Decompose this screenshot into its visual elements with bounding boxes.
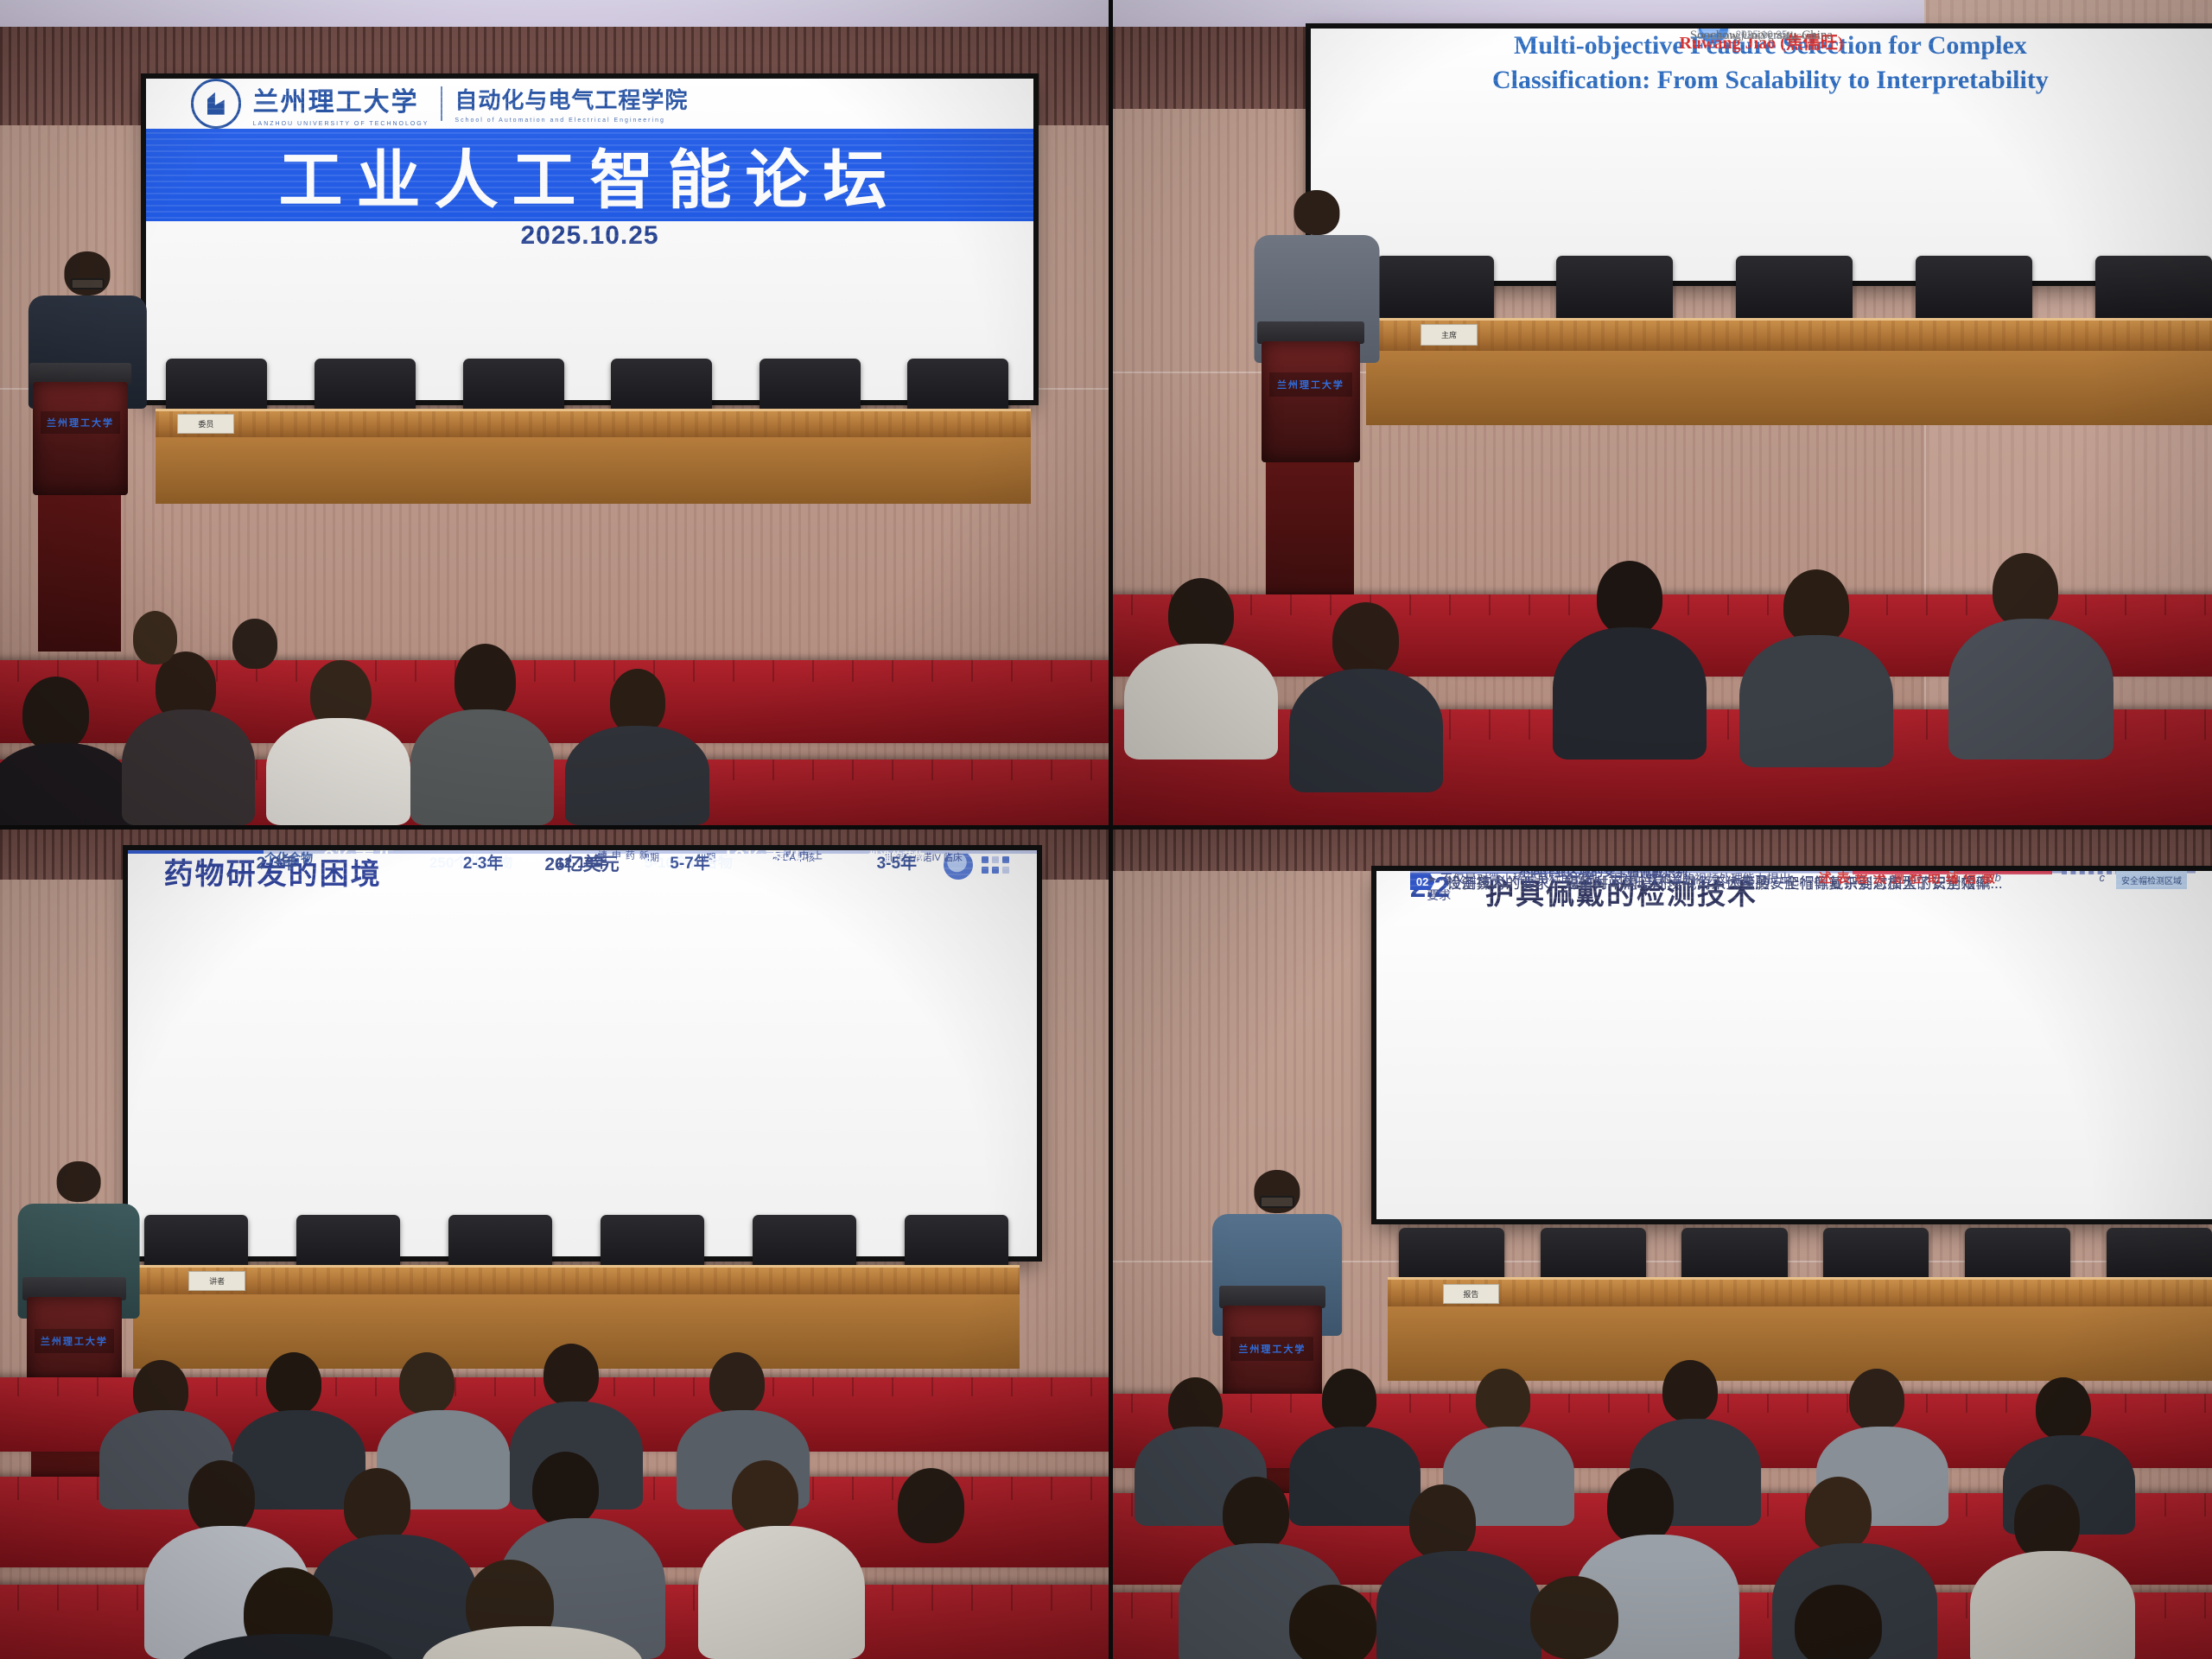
stage-desk-front xyxy=(1388,1306,2212,1381)
name-plate: 讲者 xyxy=(188,1271,245,1291)
total-cost: 26亿美元 xyxy=(128,850,1037,876)
dashed-label: 人体检测框 xyxy=(2073,873,2116,874)
lectern-body: 兰州理工大学 xyxy=(27,1297,122,1418)
lectern-body: 兰州理工大学 xyxy=(33,382,127,495)
screen-scanlines xyxy=(1376,871,2212,1219)
screen-glow xyxy=(128,850,1037,1256)
ceiling xyxy=(0,0,1109,27)
lectern-base xyxy=(31,1419,116,1568)
stage-desk-front xyxy=(156,437,1032,503)
wall-upper-dark-band xyxy=(1113,829,2212,871)
university-emblem-icon xyxy=(191,79,241,129)
photo-label: c xyxy=(2099,871,2105,884)
name-plate: 主席 xyxy=(1421,324,1478,346)
stage-desk-front xyxy=(133,1294,1020,1369)
forum-title-text: 工业人工智能论坛 xyxy=(279,129,901,221)
name-plate: 报告 xyxy=(1443,1284,1500,1304)
stage-chair-row xyxy=(1376,256,2212,321)
stage-desk-top xyxy=(1388,1277,2212,1309)
panel-bottom-right: 2.2 护具佩戴的检测技术 佩戴安全帽能够有效降低头部受到落石、器械、摔打、电击… xyxy=(1113,829,2212,1659)
lectern-base xyxy=(1266,462,1354,602)
left-note: ➤ 不仅是对微小稀疏目标的识别，更对计算资源的视频处理能力提出要求 xyxy=(1427,871,1794,904)
lectern-body: 兰州理工大学 xyxy=(1223,1306,1321,1427)
paper-title-line2: Classification: From Scalability to Inte… xyxy=(1347,63,2194,98)
forum-date-row: 2025.10.25 xyxy=(146,221,1033,251)
stage-desk-top xyxy=(1366,318,2212,353)
slide-logo-row: 兰州理工大学 LANZHOU UNIVERSITY OF TECHNOLOGY … xyxy=(146,79,1033,129)
lectern-nameplate: 兰州理工大学 xyxy=(35,1329,115,1353)
lectern-nameplate: 兰州理工大学 xyxy=(41,411,120,434)
projection-screen: 药物研发的困境 药物发现 临床前研究 临床试验 上市 xyxy=(128,850,1037,1256)
stage-desk-top xyxy=(156,409,1032,440)
lectern: 兰州理工大学 xyxy=(27,1277,122,1418)
screen-glow xyxy=(1376,871,2212,1219)
tag-box: 安全帽检测区域 xyxy=(2116,871,2187,889)
forum-title-band: 工业人工智能论坛 xyxy=(146,129,1033,221)
stage-desk-front xyxy=(1366,351,2212,425)
paper-date: 2025.10.25 xyxy=(1311,29,2212,41)
lectern: 兰州理工大学 xyxy=(1223,1286,1321,1427)
panel-top-left: 兰州理工大学 LANZHOU UNIVERSITY OF TECHNOLOGY … xyxy=(0,0,1113,829)
speaker-glasses xyxy=(71,278,105,289)
lectern-body: 兰州理工大学 xyxy=(1262,341,1360,462)
speaker-head xyxy=(1294,190,1339,235)
slide-forum-title: 兰州理工大学 LANZHOU UNIVERSITY OF TECHNOLOGY … xyxy=(146,79,1033,251)
university-name-en: LANZHOU UNIVERSITY OF TECHNOLOGY xyxy=(253,121,429,127)
sample-photo xyxy=(1957,871,2052,874)
photo-collage: 兰州理工大学 LANZHOU UNIVERSITY OF TECHNOLOGY … xyxy=(0,0,2212,1659)
school-name-cn: 自动化与电气工程学院 xyxy=(454,83,688,115)
projection-screen: 2.2 护具佩戴的检测技术 佩戴安全帽能够有效降低头部受到落石、器械、摔打、电击… xyxy=(1376,871,2212,1219)
lectern-top xyxy=(29,363,131,384)
university-name-cn: 兰州理工大学 xyxy=(253,80,429,118)
lectern-base xyxy=(38,495,121,652)
speaker-glasses xyxy=(1260,1196,1294,1208)
panel-top-right: 苏州大学 Multi-objective Feature Selection f… xyxy=(1113,0,2212,829)
logo-divider xyxy=(441,86,442,121)
forum-date-text: 2025.10.25 xyxy=(520,221,658,251)
school-name-en: School of Automation and Electrical Engi… xyxy=(454,118,688,124)
lectern-nameplate: 兰州理工大学 xyxy=(1230,1337,1313,1361)
sample-photo xyxy=(1853,871,1948,874)
photo-label: b xyxy=(1995,871,2001,884)
photo-label: a xyxy=(1891,871,1897,884)
projection-screen: 兰州理工大学 LANZHOU UNIVERSITY OF TECHNOLOGY … xyxy=(146,79,1033,400)
panel-bottom-left: 药物研发的困境 药物发现 临床前研究 临床试验 上市 xyxy=(0,829,1113,1659)
stage-desk-top xyxy=(133,1265,1020,1297)
lectern: 兰州理工大学 xyxy=(1262,321,1360,461)
lectern-nameplate: 兰州理工大学 xyxy=(1269,372,1352,397)
projection-screen: 苏州大学 Multi-objective Feature Selection f… xyxy=(1311,29,2212,280)
left-note-text: 不仅是对微小稀疏目标的识别，更对计算资源的视频处理能力提出要求 xyxy=(1427,872,1791,902)
lectern-base xyxy=(1227,1427,1315,1567)
speaker-head xyxy=(57,1161,101,1202)
lectern: 兰州理工大学 xyxy=(33,363,127,495)
name-plate: 委员 xyxy=(177,414,234,434)
screen-scanlines xyxy=(128,850,1037,1256)
